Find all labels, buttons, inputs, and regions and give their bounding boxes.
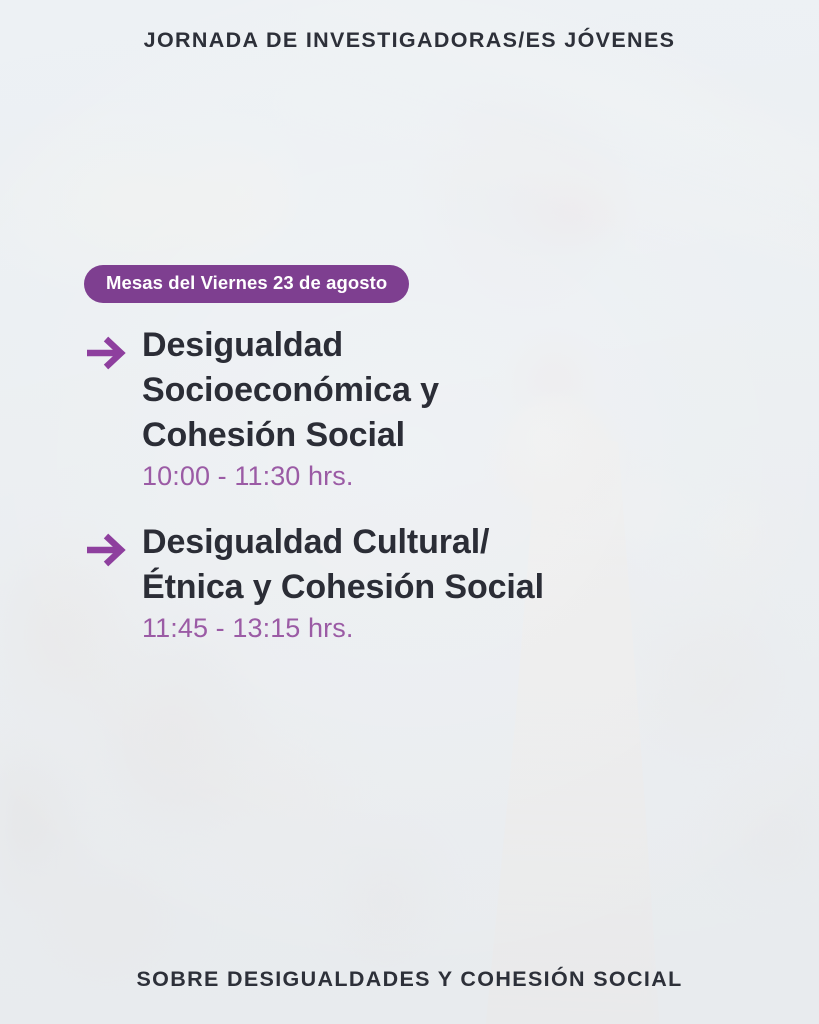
session-body: Desigualdad Cultural/ Étnica y Cohesión … (142, 520, 744, 646)
session-list: Desigualdad Socioeconómica y Cohesión So… (84, 323, 744, 647)
session-time: 11:45 - 13:15 hrs. (142, 612, 744, 646)
session-body: Desigualdad Socioeconómica y Cohesión So… (142, 323, 744, 494)
session-item: Desigualdad Cultural/ Étnica y Cohesión … (84, 520, 744, 646)
session-item: Desigualdad Socioeconómica y Cohesión So… (84, 323, 744, 494)
poster-footer-title: SOBRE DESIGUALDADES Y COHESIÓN SOCIAL (0, 967, 819, 992)
poster-header-title: JORNADA DE INVESTIGADORAS/ES JÓVENES (0, 28, 819, 53)
session-title: Desigualdad Cultural/ Étnica y Cohesión … (142, 520, 744, 610)
arrow-right-icon (84, 331, 128, 375)
arrow-right-icon (84, 528, 128, 572)
poster-content: JORNADA DE INVESTIGADORAS/ES JÓVENES Mes… (0, 0, 819, 1024)
schedule-block: Mesas del Viernes 23 de agosto Desiguald… (84, 265, 744, 646)
session-time: 10:00 - 11:30 hrs. (142, 460, 744, 494)
event-poster: JORNADA DE INVESTIGADORAS/ES JÓVENES Mes… (0, 0, 819, 1024)
day-badge: Mesas del Viernes 23 de agosto (84, 265, 409, 303)
session-title: Desigualdad Socioeconómica y Cohesión So… (142, 323, 744, 459)
